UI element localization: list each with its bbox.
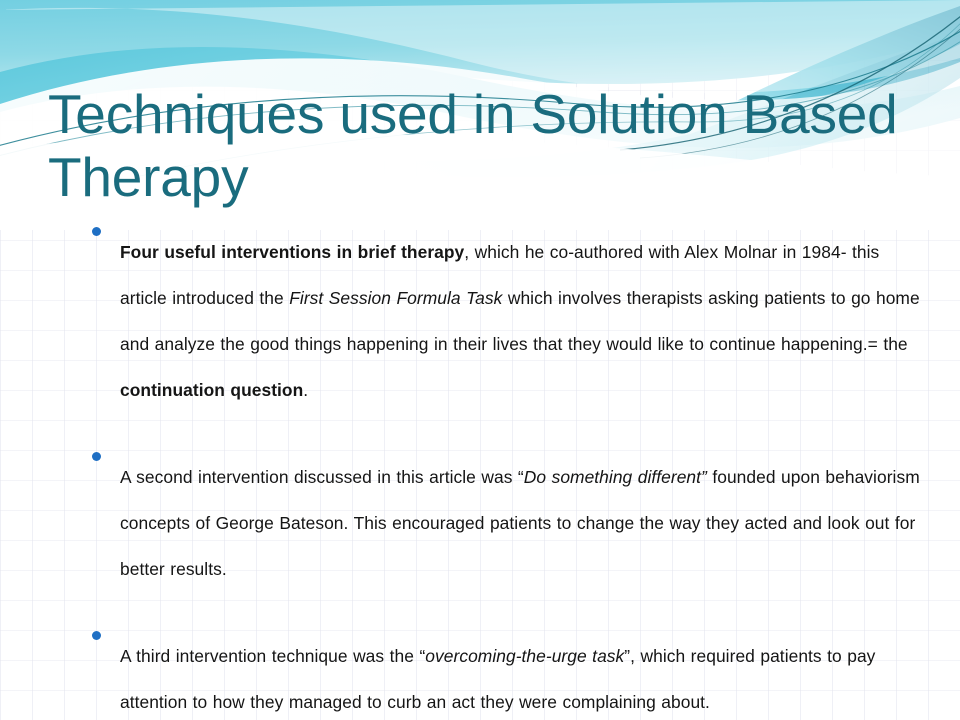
list-item: A second intervention discussed in this …: [92, 437, 920, 610]
bullet-dot-icon: [92, 616, 120, 640]
bullet-dot-icon: [92, 437, 120, 461]
slide-title: Techniques used in Solution Based Therap…: [48, 83, 928, 210]
bullet-dot-icon: [92, 212, 120, 236]
list-item: A third intervention technique was the “…: [92, 616, 920, 720]
bullet-text-3: A third intervention technique was the “…: [120, 633, 920, 720]
bullet-text-1: Four useful interventions in brief thera…: [120, 229, 920, 413]
bullet-text-2: A second intervention discussed in this …: [120, 454, 920, 592]
presentation-slide: Techniques used in Solution Based Therap…: [0, 0, 960, 720]
slide-body: Four useful interventions in brief thera…: [92, 212, 920, 720]
list-item: Four useful interventions in brief thera…: [92, 212, 920, 431]
